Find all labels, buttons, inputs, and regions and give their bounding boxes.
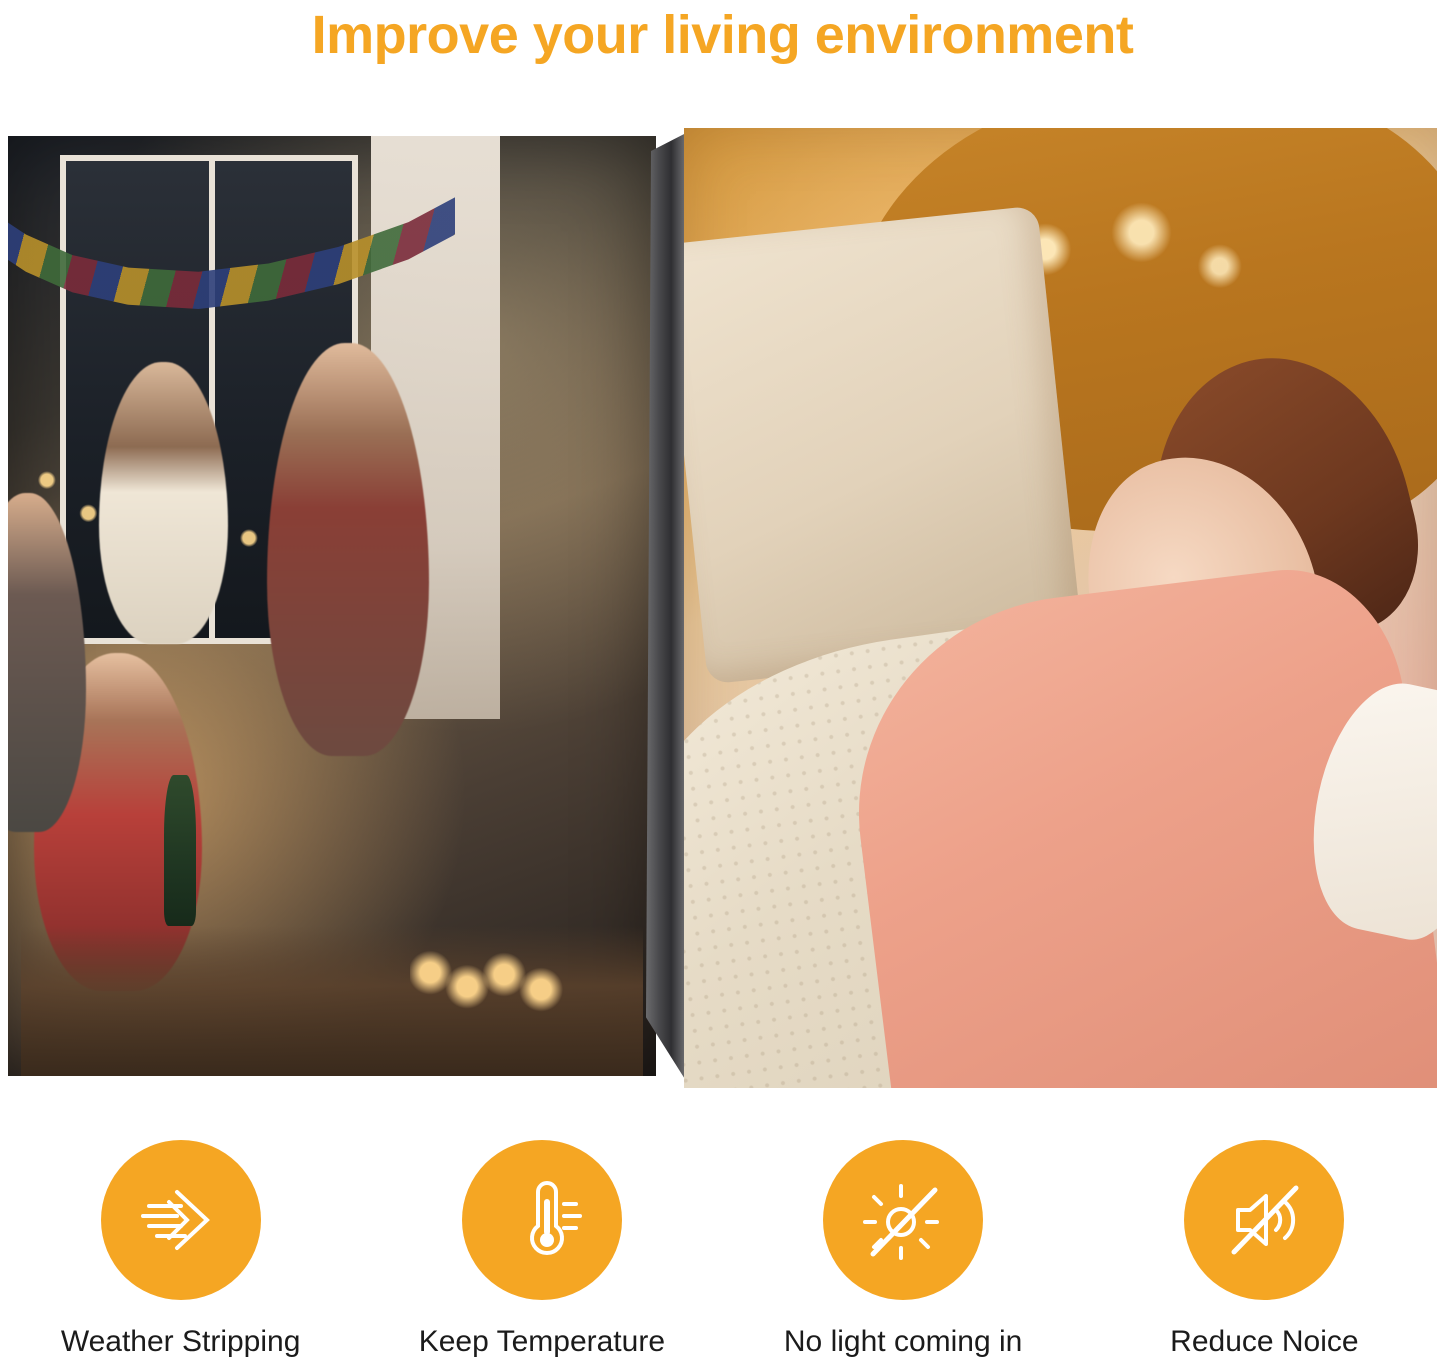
feature-label: Weather Stripping [61,1324,301,1360]
icon-badge [462,1140,622,1300]
candles-shape [410,935,578,1029]
icon-badge [1184,1140,1344,1300]
party-scene-photo [8,136,656,1076]
no-light-icon [855,1172,951,1268]
mute-speaker-icon [1216,1172,1312,1268]
icon-badge [101,1140,261,1300]
feature-list: Weather Stripping Keep Temperature [0,1140,1445,1360]
feature-label: Reduce Noice [1170,1324,1358,1360]
page-title: Improve your living environment [0,0,1445,62]
feature-item-reduce-noise: Reduce Noice [1099,1140,1429,1360]
feature-label: No light coming in [784,1324,1022,1360]
feature-item-keep-temperature: Keep Temperature [377,1140,707,1360]
feature-item-no-light: No light coming in [738,1140,1068,1360]
champagne-bottle-shape [164,775,196,925]
thermometer-icon [494,1172,590,1268]
door-edge-divider [646,132,688,1084]
feature-item-weather-stripping: Weather Stripping [16,1140,346,1360]
feature-label: Keep Temperature [419,1324,665,1360]
wind-arrow-icon [133,1172,229,1268]
icon-badge [823,1140,983,1300]
hero-images [0,120,1445,1080]
sleeping-child-photo [684,128,1437,1088]
